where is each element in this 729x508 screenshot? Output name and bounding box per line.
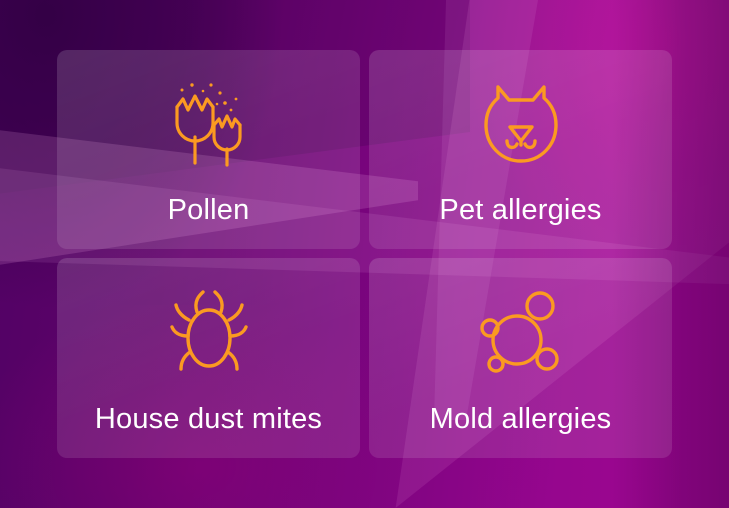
category-label-mold-allergies: Mold allergies [430, 404, 612, 436]
category-card-mold-allergies[interactable]: Mold allergies [369, 258, 672, 458]
dust-mite-bug-icon [161, 286, 257, 382]
allergy-category-grid-screen: Pollen Pet allergies [0, 0, 729, 508]
category-card-pollen[interactable]: Pollen [57, 50, 360, 249]
category-label-house-dust-mites: House dust mites [95, 404, 322, 436]
category-card-pet-allergies[interactable]: Pet allergies [369, 50, 672, 249]
category-label-pollen: Pollen [168, 195, 250, 227]
category-label-pet-allergies: Pet allergies [439, 195, 601, 227]
category-card-grid: Pollen Pet allergies [57, 50, 672, 458]
cat-face-icon [473, 79, 569, 175]
tulip-flowers-icon [161, 79, 257, 175]
category-card-house-dust-mites[interactable]: House dust mites [57, 258, 360, 458]
mold-spores-icon [473, 286, 569, 382]
